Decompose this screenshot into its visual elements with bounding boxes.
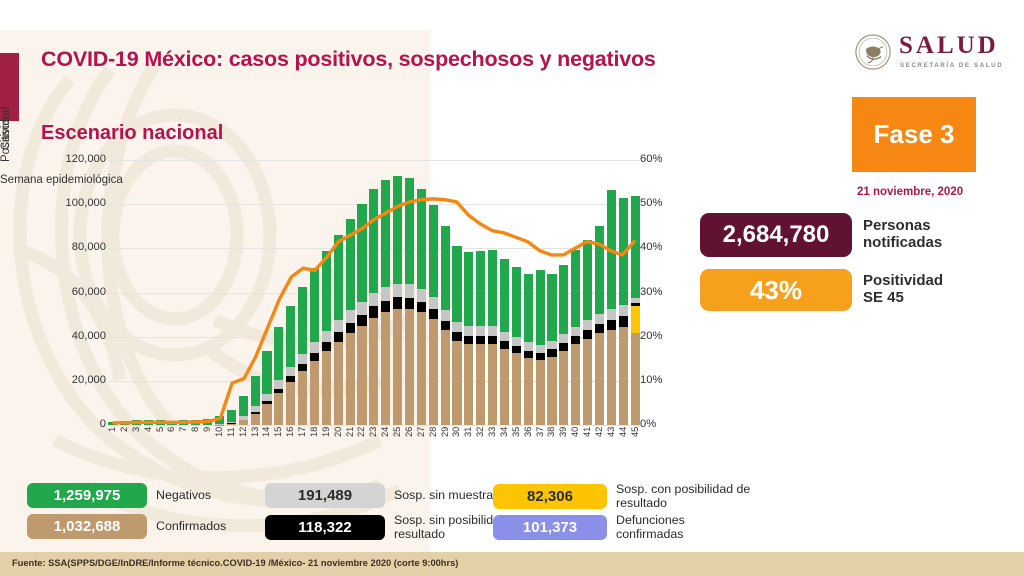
bar-segment xyxy=(298,371,307,425)
legend-label-line1: Defunciones xyxy=(616,514,685,528)
bar-segment xyxy=(452,332,461,341)
stat-personas-notificadas: 2,684,780 Personas notificadas xyxy=(700,213,942,257)
bar-segment xyxy=(536,270,545,345)
page-subtitle: Escenario nacional xyxy=(41,122,223,145)
bar-segment xyxy=(286,367,295,376)
bar-column xyxy=(476,160,485,425)
bar-segment xyxy=(512,337,521,346)
x-tick-label: 29 xyxy=(441,427,450,453)
bar-segment xyxy=(595,314,604,324)
bar-segment xyxy=(381,301,390,313)
bar-segment xyxy=(393,176,402,284)
bar-segment xyxy=(441,310,450,321)
bar-column xyxy=(595,160,604,425)
legend-value-chip: 191,489 xyxy=(265,483,385,508)
legend-label: Sosp. sin muestra xyxy=(394,489,493,503)
bar-segment xyxy=(429,309,438,319)
y2-tick-label: 30% xyxy=(640,287,686,298)
bar-segment xyxy=(179,420,188,425)
y2-tick-label: 10% xyxy=(640,375,686,386)
bar-column xyxy=(488,160,497,425)
stat-label-line1: Positividad xyxy=(863,273,943,290)
bar-segment xyxy=(381,312,390,425)
bar-segment xyxy=(251,414,260,425)
y2-tick-label: 20% xyxy=(640,331,686,342)
bar-segment xyxy=(274,393,283,425)
x-tick-label: 31 xyxy=(464,427,473,453)
bar-segment xyxy=(239,420,248,425)
bar-column xyxy=(286,160,295,425)
bar-column xyxy=(346,160,355,425)
bar-column xyxy=(132,160,141,425)
legend-value-chip: 1,259,975 xyxy=(27,483,147,508)
x-tick-label: 24 xyxy=(381,427,390,453)
bar-segment xyxy=(417,289,426,302)
x-tick-label: 26 xyxy=(405,427,414,453)
y-tick-label: 120,000 xyxy=(46,154,106,165)
bar-segment xyxy=(227,424,236,425)
bar-segment xyxy=(547,274,556,340)
y-tick-label: 40,000 xyxy=(46,331,106,342)
x-tick-label: 40 xyxy=(571,427,580,453)
x-tick-label: 5 xyxy=(156,427,165,453)
bar-segment xyxy=(298,287,307,354)
bar-segment xyxy=(429,319,438,425)
bar-column xyxy=(583,160,592,425)
bar-segment xyxy=(203,419,212,425)
legend-label-line1: Sosp. sin muestra xyxy=(394,489,493,503)
bar-segment xyxy=(500,332,509,341)
bar-segment xyxy=(547,341,556,350)
bar-segment xyxy=(227,410,236,422)
legend-item: 191,489Sosp. sin muestra xyxy=(265,483,493,508)
footer-band: Fuente: SSA(SPPS/DGE/InDRE/Informe técni… xyxy=(0,552,1024,576)
bar-column xyxy=(108,160,117,425)
bar-column xyxy=(381,160,390,425)
bar-segment xyxy=(631,196,640,299)
y-tick-label: 60,000 xyxy=(46,287,106,298)
bar-segment xyxy=(357,315,366,326)
bar-segment xyxy=(536,353,545,360)
bar-segment xyxy=(357,302,366,315)
y2-tick-label: 60% xyxy=(640,154,686,165)
bar-column xyxy=(298,160,307,425)
page-title: COVID-19 México: casos positivos, sospec… xyxy=(41,47,656,72)
x-tick-label: 45 xyxy=(631,427,640,453)
bar-segment xyxy=(619,305,628,316)
x-tick-label: 44 xyxy=(619,427,628,453)
bar-segment xyxy=(631,306,640,334)
x-tick-label: 18 xyxy=(310,427,319,453)
x-tick-label: 1 xyxy=(108,427,117,453)
x-tick-label: 20 xyxy=(334,427,343,453)
bar-segment xyxy=(464,336,473,345)
x-tick-label: 41 xyxy=(583,427,592,453)
legend-label: Defuncionesconfirmadas xyxy=(616,514,685,542)
bar-column xyxy=(191,160,200,425)
stat-label-line1: Personas xyxy=(863,218,942,235)
epidemic-chart: Casos Positividad Semana epidemiológica … xyxy=(0,150,700,470)
bar-segment xyxy=(536,345,545,353)
bar-segment xyxy=(500,349,509,425)
bar-segment xyxy=(500,259,509,332)
bar-segment xyxy=(262,404,271,425)
bar-segment xyxy=(393,309,402,425)
bar-segment xyxy=(144,420,153,425)
bar-segment xyxy=(286,382,295,425)
bar-column xyxy=(179,160,188,425)
y2-axis-title: Positividad xyxy=(0,0,12,162)
bar-segment xyxy=(334,342,343,425)
x-tick-label: 22 xyxy=(357,427,366,453)
bar-segment xyxy=(464,326,473,336)
x-axis-ticks: 1234567891011121314151617181920212223242… xyxy=(108,427,640,453)
y-tick-label: 100,000 xyxy=(46,198,106,209)
legend-item: 1,032,688Confirmados xyxy=(27,514,226,539)
bar-segment xyxy=(488,344,497,425)
bar-column xyxy=(274,160,283,425)
x-tick-label: 10 xyxy=(215,427,224,453)
x-tick-label: 8 xyxy=(191,427,200,453)
bar-segment xyxy=(298,354,307,364)
bar-segment xyxy=(346,333,355,425)
bar-segment xyxy=(310,342,319,353)
x-tick-label: 39 xyxy=(559,427,568,453)
bar-segment xyxy=(441,226,450,310)
legend-label-line1: Confirmados xyxy=(156,520,226,534)
bar-segment xyxy=(476,251,485,326)
x-tick-label: 19 xyxy=(322,427,331,453)
positividad-label: Positividad SE 45 xyxy=(863,273,943,307)
bar-segment xyxy=(215,416,224,424)
bar-segment xyxy=(583,330,592,339)
bar-segment xyxy=(441,321,450,330)
bar-segment xyxy=(476,326,485,336)
bar-column xyxy=(464,160,473,425)
bar-column xyxy=(369,160,378,425)
bar-segment xyxy=(547,357,556,425)
bar-segment xyxy=(607,320,616,330)
bar-segment xyxy=(346,310,355,322)
bar-segment xyxy=(559,265,568,335)
fase-label: Fase 3 xyxy=(874,119,955,150)
bar-segment xyxy=(536,360,545,425)
bar-segment xyxy=(393,284,402,297)
bar-segment xyxy=(251,376,260,407)
bar-segment xyxy=(476,344,485,425)
bar-segment xyxy=(571,336,580,344)
x-tick-label: 38 xyxy=(547,427,556,453)
bar-segment xyxy=(405,178,414,284)
bar-column xyxy=(334,160,343,425)
bar-column xyxy=(452,160,461,425)
bar-segment xyxy=(405,309,414,425)
bar-column xyxy=(512,160,521,425)
bar-segment xyxy=(417,189,426,289)
bar-segment xyxy=(524,342,533,350)
bar-segment xyxy=(108,422,117,425)
bar-segment xyxy=(132,420,141,425)
bar-segment xyxy=(524,351,533,358)
bar-segment xyxy=(417,312,426,425)
bar-segment xyxy=(452,322,461,332)
bar-series-group xyxy=(108,160,640,425)
bar-segment xyxy=(619,327,628,425)
bar-column xyxy=(631,160,640,425)
bar-column xyxy=(144,160,153,425)
bar-segment xyxy=(547,349,556,356)
bar-column xyxy=(322,160,331,425)
legend-value-chip: 1,032,688 xyxy=(27,514,147,539)
x-tick-label: 16 xyxy=(286,427,295,453)
bar-segment xyxy=(322,342,331,351)
x-tick-label: 27 xyxy=(417,427,426,453)
x-tick-label: 28 xyxy=(429,427,438,453)
bar-segment xyxy=(120,421,129,425)
bar-segment xyxy=(405,298,414,309)
bar-segment xyxy=(488,336,497,344)
bar-segment xyxy=(310,268,319,342)
personas-notificadas-label: Personas notificadas xyxy=(863,218,942,252)
bar-segment xyxy=(571,250,580,326)
y2-tick-label: 50% xyxy=(640,198,686,209)
y-tick-label: 0 xyxy=(46,419,106,430)
x-tick-label: 42 xyxy=(595,427,604,453)
bar-segment xyxy=(369,189,378,293)
bar-segment xyxy=(405,284,414,297)
bar-segment xyxy=(239,396,248,416)
plot-area xyxy=(108,160,640,425)
bar-column xyxy=(619,160,628,425)
bar-segment xyxy=(607,190,616,309)
bar-segment xyxy=(559,343,568,351)
bar-segment xyxy=(334,235,343,320)
bar-column xyxy=(559,160,568,425)
stat-positividad: 43% Positividad SE 45 xyxy=(700,269,943,311)
bar-segment xyxy=(334,332,343,342)
bar-column xyxy=(357,160,366,425)
bar-segment xyxy=(464,252,473,326)
legend-item: 118,322Sosp. sin posibilidad deresultado xyxy=(265,514,524,542)
legend-value-chip: 118,322 xyxy=(265,515,385,540)
legend-label: Confirmados xyxy=(156,520,226,534)
legend-label-line1: Negativos xyxy=(156,489,211,503)
bar-segment xyxy=(156,420,165,425)
bar-segment xyxy=(488,250,497,326)
bar-column xyxy=(167,160,176,425)
bar-segment xyxy=(381,180,390,287)
legend-label-line1: Sosp. con posibilidad de xyxy=(616,483,750,497)
x-tick-label: 32 xyxy=(476,427,485,453)
y-axis-right: 60%50%40%30%20%10%0% xyxy=(640,150,686,415)
x-tick-label: 43 xyxy=(607,427,616,453)
report-date: 21 noviembre, 2020 xyxy=(857,186,963,198)
bar-segment xyxy=(429,297,438,309)
x-tick-label: 7 xyxy=(179,427,188,453)
x-tick-label: 33 xyxy=(488,427,497,453)
legend-item: 101,373Defuncionesconfirmadas xyxy=(493,514,685,542)
bar-column xyxy=(393,160,402,425)
bar-segment xyxy=(334,320,343,332)
bar-segment xyxy=(274,327,283,380)
bar-segment xyxy=(559,351,568,425)
salud-wordmark: SALUD xyxy=(899,32,999,60)
bar-segment xyxy=(393,297,402,309)
bar-segment xyxy=(191,420,200,425)
bar-segment xyxy=(619,198,628,305)
gridline xyxy=(108,425,640,426)
stat-label-line2: notificadas xyxy=(863,235,942,252)
y-axis-left: 120,000100,00080,00060,00040,00020,0000 xyxy=(48,150,106,415)
bar-segment xyxy=(619,316,628,326)
bar-column xyxy=(203,160,212,425)
bar-column xyxy=(227,160,236,425)
bar-column xyxy=(571,160,580,425)
x-tick-label: 15 xyxy=(274,427,283,453)
x-tick-label: 12 xyxy=(239,427,248,453)
bar-segment xyxy=(607,330,616,425)
bar-segment xyxy=(583,240,592,321)
bar-segment xyxy=(559,334,568,343)
bar-column xyxy=(607,160,616,425)
bar-segment xyxy=(583,339,592,425)
bar-segment xyxy=(417,302,426,313)
bar-segment xyxy=(262,394,271,401)
bar-column xyxy=(310,160,319,425)
positividad-value: 43% xyxy=(700,269,852,311)
x-tick-label: 30 xyxy=(452,427,461,453)
bar-segment xyxy=(262,351,271,394)
bar-segment xyxy=(346,323,355,334)
bar-column xyxy=(441,160,450,425)
x-tick-label: 37 xyxy=(536,427,545,453)
bar-segment xyxy=(595,324,604,333)
bar-segment xyxy=(595,333,604,425)
bar-column xyxy=(405,160,414,425)
x-tick-label: 4 xyxy=(144,427,153,453)
footer-source: Fuente: SSA(SPPS/DGE/InDRE/Informe técni… xyxy=(12,558,458,568)
bar-segment xyxy=(369,293,378,306)
salud-logo: SALUD SECRETARÍA DE SALUD xyxy=(855,32,1015,80)
stat-label-line2: SE 45 xyxy=(863,290,943,307)
x-tick-label: 36 xyxy=(524,427,533,453)
bar-segment xyxy=(524,358,533,425)
bar-segment xyxy=(631,333,640,425)
x-tick-label: 3 xyxy=(132,427,141,453)
x-tick-label: 17 xyxy=(298,427,307,453)
bar-segment xyxy=(583,320,592,330)
bar-segment xyxy=(322,251,331,331)
x-tick-label: 23 xyxy=(369,427,378,453)
y-tick-label: 20,000 xyxy=(46,375,106,386)
bar-segment xyxy=(357,204,366,302)
bar-column xyxy=(429,160,438,425)
x-tick-label: 21 xyxy=(346,427,355,453)
bar-segment xyxy=(167,421,176,425)
bar-column xyxy=(547,160,556,425)
legend-value-chip: 101,373 xyxy=(493,515,607,540)
mexico-eagle-emblem-icon xyxy=(855,34,891,70)
bar-column xyxy=(262,160,271,425)
x-tick-label: 13 xyxy=(251,427,260,453)
bar-segment xyxy=(571,344,580,425)
bar-segment xyxy=(286,306,295,367)
legend-item: 1,259,975Negativos xyxy=(27,483,211,508)
bar-segment xyxy=(488,326,497,336)
bar-segment xyxy=(441,330,450,425)
bar-segment xyxy=(310,361,319,425)
bar-segment xyxy=(607,309,616,320)
bar-segment xyxy=(381,287,390,300)
bar-segment xyxy=(357,326,366,425)
bar-segment xyxy=(369,318,378,425)
bar-segment xyxy=(322,331,331,342)
legend-label: Sosp. con posibilidad deresultado xyxy=(616,483,750,511)
bar-segment xyxy=(452,341,461,425)
bar-segment xyxy=(512,267,521,337)
bar-column xyxy=(500,160,509,425)
bar-segment xyxy=(429,205,438,298)
bar-column xyxy=(536,160,545,425)
bar-column xyxy=(524,160,533,425)
bar-segment xyxy=(464,344,473,425)
legend-label: Negativos xyxy=(156,489,211,503)
bar-segment xyxy=(512,353,521,425)
bar-segment xyxy=(476,336,485,345)
x-tick-label: 11 xyxy=(227,427,236,453)
legend-label-line2: resultado xyxy=(616,497,750,511)
bar-segment xyxy=(322,351,331,425)
x-tick-label: 9 xyxy=(203,427,212,453)
legend-label-line2: confirmadas xyxy=(616,528,685,542)
bar-segment xyxy=(500,341,509,349)
x-tick-label: 6 xyxy=(167,427,176,453)
bar-segment xyxy=(369,306,378,317)
bar-segment xyxy=(595,226,604,313)
bar-segment xyxy=(274,380,283,388)
x-tick-label: 35 xyxy=(512,427,521,453)
bar-column xyxy=(156,160,165,425)
x-tick-label: 34 xyxy=(500,427,509,453)
bar-segment xyxy=(512,346,521,354)
bar-segment xyxy=(524,274,533,342)
bar-column xyxy=(251,160,260,425)
y2-tick-label: 0% xyxy=(640,419,686,430)
bar-column xyxy=(120,160,129,425)
x-tick-label: 14 xyxy=(262,427,271,453)
x-tick-label: 25 xyxy=(393,427,402,453)
legend-value-chip: 82,306 xyxy=(493,484,607,509)
bar-segment xyxy=(452,246,461,322)
y-tick-label: 80,000 xyxy=(46,242,106,253)
personas-notificadas-value: 2,684,780 xyxy=(700,213,852,257)
bar-segment xyxy=(346,219,355,311)
legend-item: 82,306Sosp. con posibilidad deresultado xyxy=(493,483,750,511)
bar-segment xyxy=(298,364,307,371)
bar-column xyxy=(417,160,426,425)
bar-segment xyxy=(310,353,319,361)
y2-tick-label: 40% xyxy=(640,242,686,253)
bar-segment xyxy=(571,327,580,336)
fase-badge: Fase 3 xyxy=(852,97,976,172)
x-tick-label: 2 xyxy=(120,427,129,453)
chart-legend: 1,259,975Negativos191,489Sosp. sin muest… xyxy=(27,483,767,543)
salud-subtitle: SECRETARÍA DE SALUD xyxy=(900,62,1003,69)
bar-column xyxy=(215,160,224,425)
bar-column xyxy=(239,160,248,425)
